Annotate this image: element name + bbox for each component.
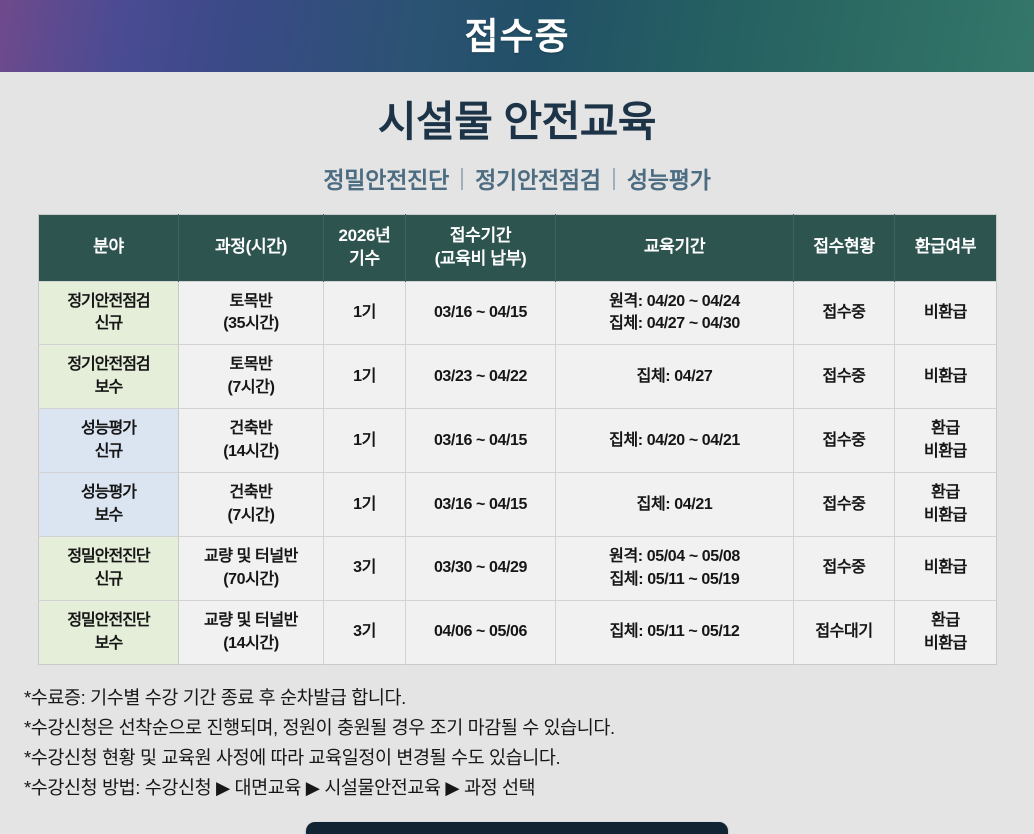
cell-line: 비환급 — [899, 367, 992, 387]
cell-line: 건축반 — [183, 483, 319, 503]
column-header-line: 교육기간 — [560, 237, 789, 258]
cell-period: 집체: 04/20 ~ 04/21 — [556, 409, 794, 473]
subtitle-item: 성능평가 — [627, 161, 711, 195]
cell-field: 정밀안전진단신규 — [39, 537, 179, 601]
cell-cohort: 1기 — [324, 409, 406, 473]
promo-page: 접수중 시설물 안전교육 정밀안전진단정기안전점검성능평가 분야과정(시간)20… — [0, 0, 1034, 834]
schedule-table-wrapper: 분야과정(시간)2026년기수접수기간(교육비 납부)교육기간접수현황환급여부 … — [38, 214, 996, 665]
cell-line: 비환급 — [899, 442, 992, 462]
column-header-status: 접수현황 — [794, 215, 895, 281]
cell-status: 접수중 — [794, 409, 895, 473]
cell-line: 비환급 — [899, 634, 992, 654]
cell-period: 집체: 04/27 — [556, 345, 794, 409]
cell-course: 토목반(35시간) — [179, 281, 324, 345]
column-header-line: 접수기간 — [410, 226, 551, 247]
cell-line: 토목반 — [183, 355, 319, 375]
cell-refund: 환급비환급 — [895, 601, 997, 665]
cell-line: 1기 — [328, 367, 401, 387]
cell-line: 1기 — [328, 495, 401, 515]
cell-line: 집체: 04/27 ~ 04/30 — [560, 314, 789, 334]
cell-line: 1기 — [328, 431, 401, 451]
cell-line: (14시간) — [183, 442, 319, 462]
cell-status: 접수중 — [794, 537, 895, 601]
cta-wrapper: 전체 교육일정 바로가기 ▶ — [0, 822, 1034, 834]
cell-field: 정기안전점검보수 — [39, 345, 179, 409]
cell-apply: 04/06 ~ 05/06 — [406, 601, 556, 665]
status-banner: 접수중 — [0, 0, 1034, 72]
cell-refund: 환급비환급 — [895, 473, 997, 537]
subtitle-separator — [613, 168, 615, 190]
cell-field: 정기안전점검신규 — [39, 281, 179, 345]
note-line: *수강신청은 선착순으로 진행되며, 정원이 충원될 경우 조기 마감될 수 있… — [24, 713, 1034, 743]
note-line: *수강신청 현황 및 교육원 사정에 따라 교육일정이 변경될 수도 있습니다. — [24, 743, 1034, 773]
cell-line: 1기 — [328, 303, 401, 323]
cell-refund: 환급비환급 — [895, 409, 997, 473]
cell-line: 신규 — [43, 442, 174, 462]
cell-field: 정밀안전진단보수 — [39, 601, 179, 665]
cell-line: (7시간) — [183, 378, 319, 398]
cell-line: 정밀안전진단 — [43, 611, 174, 631]
table-row: 성능평가신규건축반(14시간)1기03/16 ~ 04/15집체: 04/20 … — [39, 409, 997, 473]
cell-apply: 03/30 ~ 04/29 — [406, 537, 556, 601]
status-badge: 접수중 — [464, 18, 569, 55]
column-header-line: 분야 — [43, 237, 174, 258]
cell-cohort: 1기 — [324, 345, 406, 409]
subtitle-item: 정기안전점검 — [475, 161, 601, 195]
cell-line: 비환급 — [899, 506, 992, 526]
cell-field: 성능평가보수 — [39, 473, 179, 537]
cell-line: 보수 — [43, 634, 174, 654]
cell-line: 집체: 04/21 — [560, 495, 789, 515]
table-row: 정기안전점검신규토목반(35시간)1기03/16 ~ 04/15원격: 04/2… — [39, 281, 997, 345]
column-header-field: 분야 — [39, 215, 179, 281]
cell-line: 접수대기 — [798, 622, 890, 642]
heading-block: 시설물 안전교육 정밀안전진단정기안전점검성능평가 — [0, 72, 1034, 195]
cell-line: (35시간) — [183, 314, 319, 334]
table-row: 정밀안전진단보수교량 및 터널반(14시간)3기04/06 ~ 05/06집체:… — [39, 601, 997, 665]
cell-line: (70시간) — [183, 570, 319, 590]
cell-course: 건축반(14시간) — [179, 409, 324, 473]
cell-cohort: 3기 — [324, 537, 406, 601]
cell-course: 토목반(7시간) — [179, 345, 324, 409]
cell-cohort: 3기 — [324, 601, 406, 665]
cell-line: 비환급 — [899, 303, 992, 323]
cell-line: 교량 및 터널반 — [183, 611, 319, 631]
cell-line: 집체: 05/11 ~ 05/12 — [560, 622, 789, 642]
cell-line: 집체: 04/27 — [560, 367, 789, 387]
cell-line: 03/23 ~ 04/22 — [410, 367, 551, 387]
cell-line: 비환급 — [899, 558, 992, 578]
subtitle-item: 정밀안전진단 — [323, 161, 449, 195]
cell-line: 집체: 05/11 ~ 05/19 — [560, 570, 789, 590]
table-header-row: 분야과정(시간)2026년기수접수기간(교육비 납부)교육기간접수현황환급여부 — [39, 215, 997, 281]
cell-apply: 03/16 ~ 04/15 — [406, 281, 556, 345]
cell-line: 04/06 ~ 05/06 — [410, 622, 551, 642]
cell-line: 접수중 — [798, 495, 890, 515]
column-header-course: 과정(시간) — [179, 215, 324, 281]
cell-line: 교량 및 터널반 — [183, 547, 319, 567]
cell-status: 접수대기 — [794, 601, 895, 665]
cell-line: 접수중 — [798, 431, 890, 451]
note-line: *수강신청 방법: 수강신청 ▶ 대면교육 ▶ 시설물안전교육 ▶ 과정 선택 — [24, 773, 1034, 803]
cell-cohort: 1기 — [324, 473, 406, 537]
cell-period: 원격: 04/20 ~ 04/24집체: 04/27 ~ 04/30 — [556, 281, 794, 345]
cell-refund: 비환급 — [895, 345, 997, 409]
cell-line: 원격: 05/04 ~ 05/08 — [560, 547, 789, 567]
cell-line: 신규 — [43, 314, 174, 334]
cell-apply: 03/16 ~ 04/15 — [406, 409, 556, 473]
cell-status: 접수중 — [794, 473, 895, 537]
schedule-table: 분야과정(시간)2026년기수접수기간(교육비 납부)교육기간접수현황환급여부 … — [38, 214, 997, 665]
column-header-line: 과정(시간) — [183, 237, 319, 258]
column-header-cohort: 2026년기수 — [324, 215, 406, 281]
table-body: 정기안전점검신규토목반(35시간)1기03/16 ~ 04/15원격: 04/2… — [39, 281, 997, 665]
cell-line: (7시간) — [183, 506, 319, 526]
column-header-line: 2026년 — [328, 226, 401, 247]
cell-status: 접수중 — [794, 281, 895, 345]
cell-course: 교량 및 터널반(14시간) — [179, 601, 324, 665]
table-row: 성능평가보수건축반(7시간)1기03/16 ~ 04/15집체: 04/21접수… — [39, 473, 997, 537]
notes-list: *수료증: 기수별 수강 기간 종료 후 순차발급 합니다.*수강신청은 선착순… — [24, 683, 1034, 803]
cell-line: 환급 — [899, 419, 992, 439]
cell-refund: 비환급 — [895, 537, 997, 601]
cell-refund: 비환급 — [895, 281, 997, 345]
table-header: 분야과정(시간)2026년기수접수기간(교육비 납부)교육기간접수현황환급여부 — [39, 215, 997, 281]
column-header-line: 접수현황 — [798, 237, 890, 258]
cell-line: 원격: 04/20 ~ 04/24 — [560, 292, 789, 312]
cell-course: 건축반(7시간) — [179, 473, 324, 537]
full-schedule-button[interactable]: 전체 교육일정 바로가기 ▶ — [306, 822, 729, 834]
cell-period: 원격: 05/04 ~ 05/08집체: 05/11 ~ 05/19 — [556, 537, 794, 601]
note-line: *수료증: 기수별 수강 기간 종료 후 순차발급 합니다. — [24, 683, 1034, 713]
cell-apply: 03/23 ~ 04/22 — [406, 345, 556, 409]
cell-line: 보수 — [43, 378, 174, 398]
cell-line: 정기안전점검 — [43, 292, 174, 312]
cell-period: 집체: 04/21 — [556, 473, 794, 537]
column-header-line: (교육비 납부) — [410, 249, 551, 270]
cell-line: 성능평가 — [43, 419, 174, 439]
cell-cohort: 1기 — [324, 281, 406, 345]
cell-line: 접수중 — [798, 367, 890, 387]
cell-line: 건축반 — [183, 419, 319, 439]
cell-line: 집체: 04/20 ~ 04/21 — [560, 431, 789, 451]
column-header-apply: 접수기간(교육비 납부) — [406, 215, 556, 281]
cell-line: 정밀안전진단 — [43, 547, 174, 567]
cell-apply: 03/16 ~ 04/15 — [406, 473, 556, 537]
cell-line: 접수중 — [798, 558, 890, 578]
cell-course: 교량 및 터널반(70시간) — [179, 537, 324, 601]
column-header-line: 기수 — [328, 249, 401, 270]
cell-line: 03/16 ~ 04/15 — [410, 431, 551, 451]
cell-line: 토목반 — [183, 292, 319, 312]
cell-line: 03/16 ~ 04/15 — [410, 303, 551, 323]
subtitle: 정밀안전진단정기안전점검성능평가 — [0, 161, 1034, 195]
table-row: 정밀안전진단신규교량 및 터널반(70시간)3기03/30 ~ 04/29원격:… — [39, 537, 997, 601]
cell-line: 보수 — [43, 506, 174, 526]
cell-line: 03/30 ~ 04/29 — [410, 558, 551, 578]
cell-line: 성능평가 — [43, 483, 174, 503]
cell-line: (14시간) — [183, 634, 319, 654]
column-header-line: 환급여부 — [899, 237, 992, 258]
cell-line: 환급 — [899, 611, 992, 631]
cell-line: 환급 — [899, 483, 992, 503]
table-row: 정기안전점검보수토목반(7시간)1기03/23 ~ 04/22집체: 04/27… — [39, 345, 997, 409]
cell-line: 신규 — [43, 570, 174, 590]
cell-line: 03/16 ~ 04/15 — [410, 495, 551, 515]
cell-status: 접수중 — [794, 345, 895, 409]
cell-period: 집체: 05/11 ~ 05/12 — [556, 601, 794, 665]
subtitle-separator — [461, 168, 463, 190]
cell-line: 정기안전점검 — [43, 355, 174, 375]
page-title: 시설물 안전교육 — [0, 98, 1034, 145]
cell-line: 3기 — [328, 558, 401, 578]
column-header-period: 교육기간 — [556, 215, 794, 281]
cell-line: 3기 — [328, 622, 401, 642]
column-header-refund: 환급여부 — [895, 215, 997, 281]
cell-field: 성능평가신규 — [39, 409, 179, 473]
cell-line: 접수중 — [798, 303, 890, 323]
